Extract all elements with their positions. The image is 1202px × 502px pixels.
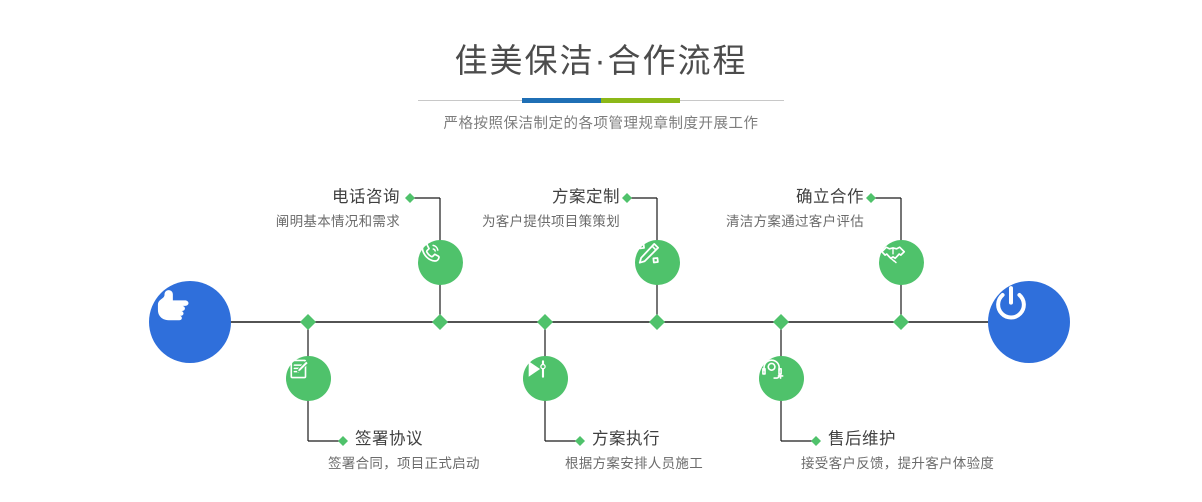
label-title-phone-consult: 电话咨询 xyxy=(200,186,400,208)
node-icon-phone-consult[interactable] xyxy=(418,240,463,285)
node-icon-confirm-cooperation[interactable] xyxy=(879,240,924,285)
label-diamond-sign-agreement xyxy=(338,436,348,446)
label-diamond-plan-execute xyxy=(575,436,585,446)
power-icon xyxy=(988,281,1034,327)
label-diamond-phone-consult xyxy=(405,193,415,203)
flow-connectors xyxy=(0,0,1202,502)
label-desc-confirm-cooperation: 清洁方案通过客户评估 xyxy=(666,212,864,232)
axis-diamond-confirm-cooperation xyxy=(893,314,909,330)
label-sign-agreement: 签署协议 签署合同，项目正式启动 xyxy=(355,428,575,474)
label-plan-execute: 方案执行 根据方案安排人员施工 xyxy=(592,428,812,474)
label-title-confirm-cooperation: 确立合作 xyxy=(666,186,864,208)
label-confirm-cooperation: 确立合作 清洁方案通过客户评估 xyxy=(666,186,864,232)
label-title-sign-agreement: 签署协议 xyxy=(355,428,575,450)
label-diamond-plan-custom xyxy=(622,193,632,203)
label-title-plan-custom: 方案定制 xyxy=(420,186,620,208)
handshake-icon xyxy=(879,240,907,268)
headset-support-icon xyxy=(759,356,785,382)
label-desc-phone-consult: 阐明基本情况和需求 xyxy=(200,212,400,232)
label-title-after-sales: 售后维护 xyxy=(828,428,1078,450)
node-icon-after-sales[interactable] xyxy=(759,356,804,401)
flow-end-endpoint[interactable] xyxy=(988,281,1070,363)
label-desc-plan-execute: 根据方案安排人员施工 xyxy=(565,454,812,474)
pencil-ruler-icon xyxy=(635,240,662,267)
label-plan-custom: 方案定制 为客户提供项目策策划 xyxy=(420,186,620,232)
axis-diamond-plan-execute xyxy=(537,314,553,330)
label-desc-after-sales: 接受客户反馈，提升客户体验度 xyxy=(801,454,1078,474)
label-desc-sign-agreement: 签署合同，项目正式启动 xyxy=(328,454,575,474)
node-icon-plan-execute[interactable] xyxy=(523,356,568,401)
phone-call-icon xyxy=(418,240,444,266)
flow-start-endpoint[interactable] xyxy=(149,281,231,363)
flow-diagram: 电话咨询 阐明基本情况和需求 方案定制 为客户提供项目策策划 确立合作 清洁方案… xyxy=(0,0,1202,502)
play-execute-icon xyxy=(523,356,549,382)
node-icon-sign-agreement[interactable] xyxy=(286,356,331,401)
axis-diamond-plan-custom xyxy=(649,314,665,330)
label-desc-plan-custom: 为客户提供项目策策划 xyxy=(420,212,620,232)
label-title-plan-execute: 方案执行 xyxy=(592,428,812,450)
label-after-sales: 售后维护 接受客户反馈，提升客户体验度 xyxy=(828,428,1078,474)
label-diamond-confirm-cooperation xyxy=(866,193,876,203)
axis-diamond-sign-agreement xyxy=(300,314,316,330)
axis-diamond-after-sales xyxy=(773,314,789,330)
node-icon-plan-custom[interactable] xyxy=(635,240,680,285)
label-phone-consult: 电话咨询 阐明基本情况和需求 xyxy=(200,186,400,232)
pointing-hand-icon xyxy=(149,281,195,327)
document-edit-icon xyxy=(286,356,312,382)
cooperation-flow-infographic: 佳美保洁·合作流程 严格按照保洁制定的各项管理规章制度开展工作 xyxy=(0,0,1202,502)
label-diamond-after-sales xyxy=(811,436,821,446)
axis-diamond-phone-consult xyxy=(432,314,448,330)
